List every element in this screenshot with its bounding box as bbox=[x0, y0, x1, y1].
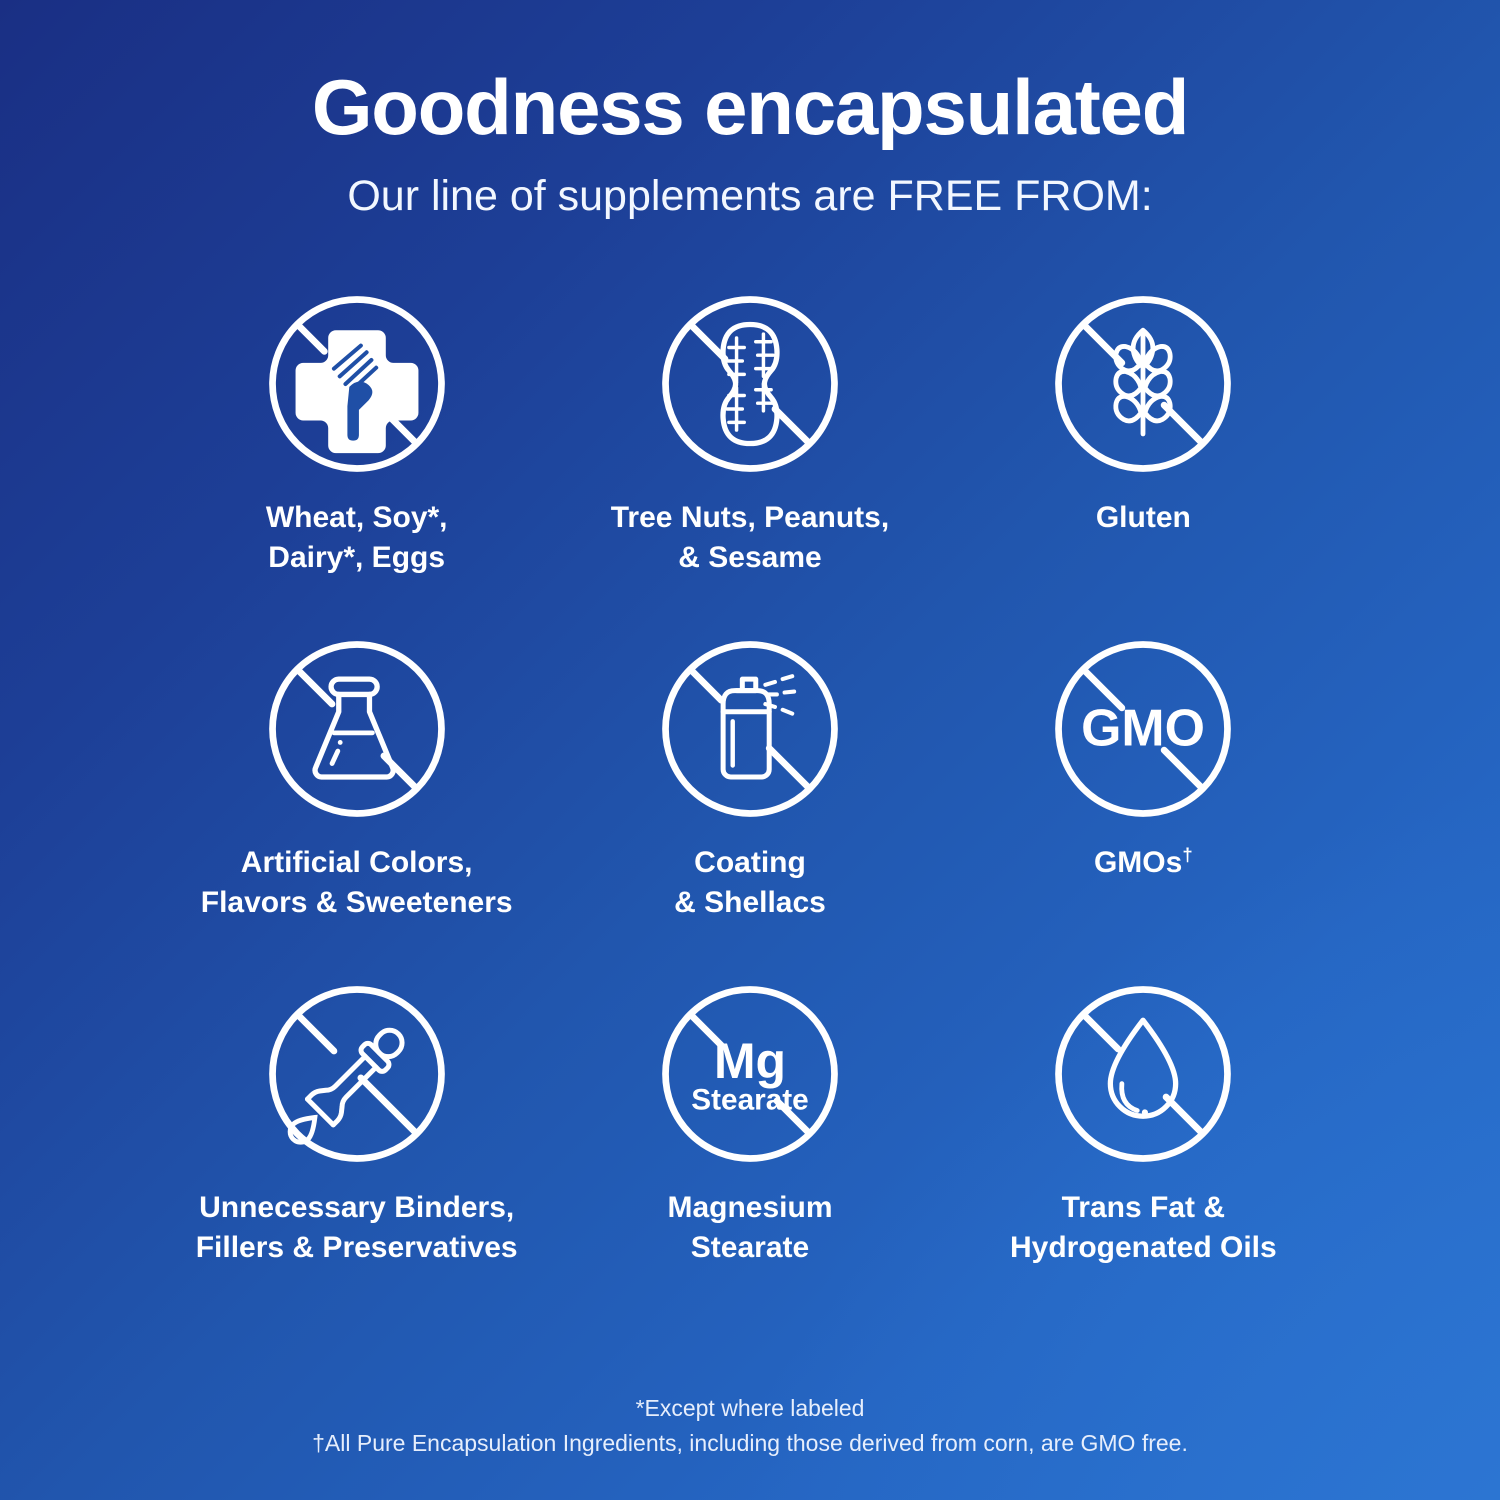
grid-item-label: Wheat, Soy*, Dairy*, Eggs bbox=[266, 498, 448, 577]
no-unnecessary-binders-fillers-preservatives-icon bbox=[261, 978, 453, 1170]
grid-item-label: GMOs† bbox=[1094, 843, 1193, 883]
poster-header: Goodness encapsulated Our line of supple… bbox=[0, 0, 1500, 222]
grid-item-label: Artificial Colors, Flavors & Sweeteners bbox=[201, 843, 513, 922]
grid-item-trans-fat-hydrogenated-oils: Trans Fat & Hydrogenated Oils bbox=[947, 978, 1340, 1323]
no-magnesium-stearate-icon: Mg Stearate bbox=[654, 978, 846, 1170]
grid-item-gmos: GMO GMOs† bbox=[947, 633, 1340, 978]
grid-item-label: Trans Fat & Hydrogenated Oils bbox=[1010, 1188, 1277, 1267]
footnote-dagger: †All Pure Encapsulation Ingredients, inc… bbox=[0, 1426, 1500, 1462]
no-coating-shellacs-icon bbox=[654, 633, 846, 825]
free-from-grid: Wheat, Soy*, Dairy*, Eggs bbox=[160, 288, 1340, 1323]
grid-item-label: Coating & Shellacs bbox=[674, 843, 826, 922]
no-wheat-soy-dairy-eggs-icon bbox=[261, 288, 453, 480]
footnotes: *Except where labeled †All Pure Encapsul… bbox=[0, 1391, 1500, 1462]
grid-item-wheat-soy-dairy-eggs: Wheat, Soy*, Dairy*, Eggs bbox=[160, 288, 553, 633]
no-tree-nuts-peanuts-sesame-icon bbox=[654, 288, 846, 480]
grid-item-label: Gluten bbox=[1096, 498, 1191, 538]
grid-item-coating-shellacs: Coating & Shellacs bbox=[553, 633, 946, 978]
no-trans-fat-hydrogenated-oils-icon bbox=[1047, 978, 1239, 1170]
grid-item-label: Tree Nuts, Peanuts, & Sesame bbox=[611, 498, 889, 577]
footnote-asterisk: *Except where labeled bbox=[0, 1391, 1500, 1427]
grid-item-gluten: Gluten bbox=[947, 288, 1340, 633]
grid-item-tree-nuts-peanuts-sesame: Tree Nuts, Peanuts, & Sesame bbox=[553, 288, 946, 633]
grid-item-unnecessary-binders-fillers-preservatives: Unnecessary Binders, Fillers & Preservat… bbox=[160, 978, 553, 1323]
grid-item-artificial-colors-flavors-sweeteners: Artificial Colors, Flavors & Sweeteners bbox=[160, 633, 553, 978]
mg-icon-text: Mg bbox=[714, 1033, 786, 1089]
grid-item-label: Unnecessary Binders, Fillers & Preservat… bbox=[196, 1188, 518, 1267]
grid-item-label-dagger: † bbox=[1182, 844, 1192, 865]
grid-item-magnesium-stearate: Mg Stearate Magnesium Stearate bbox=[553, 978, 946, 1323]
no-gmo-icon: GMO bbox=[1047, 633, 1239, 825]
no-gluten-icon bbox=[1047, 288, 1239, 480]
page-title: Goodness encapsulated bbox=[0, 66, 1500, 149]
stearate-icon-text: Stearate bbox=[691, 1084, 808, 1117]
page-subtitle: Our line of supplements are FREE FROM: bbox=[0, 171, 1500, 223]
free-from-poster: Goodness encapsulated Our line of supple… bbox=[0, 0, 1500, 1500]
no-artificial-colors-flavors-sweeteners-icon bbox=[261, 633, 453, 825]
grid-item-label: Magnesium Stearate bbox=[667, 1188, 832, 1267]
grid-item-label-text: GMOs bbox=[1094, 846, 1182, 879]
gmo-icon-text: GMO bbox=[1081, 699, 1205, 757]
